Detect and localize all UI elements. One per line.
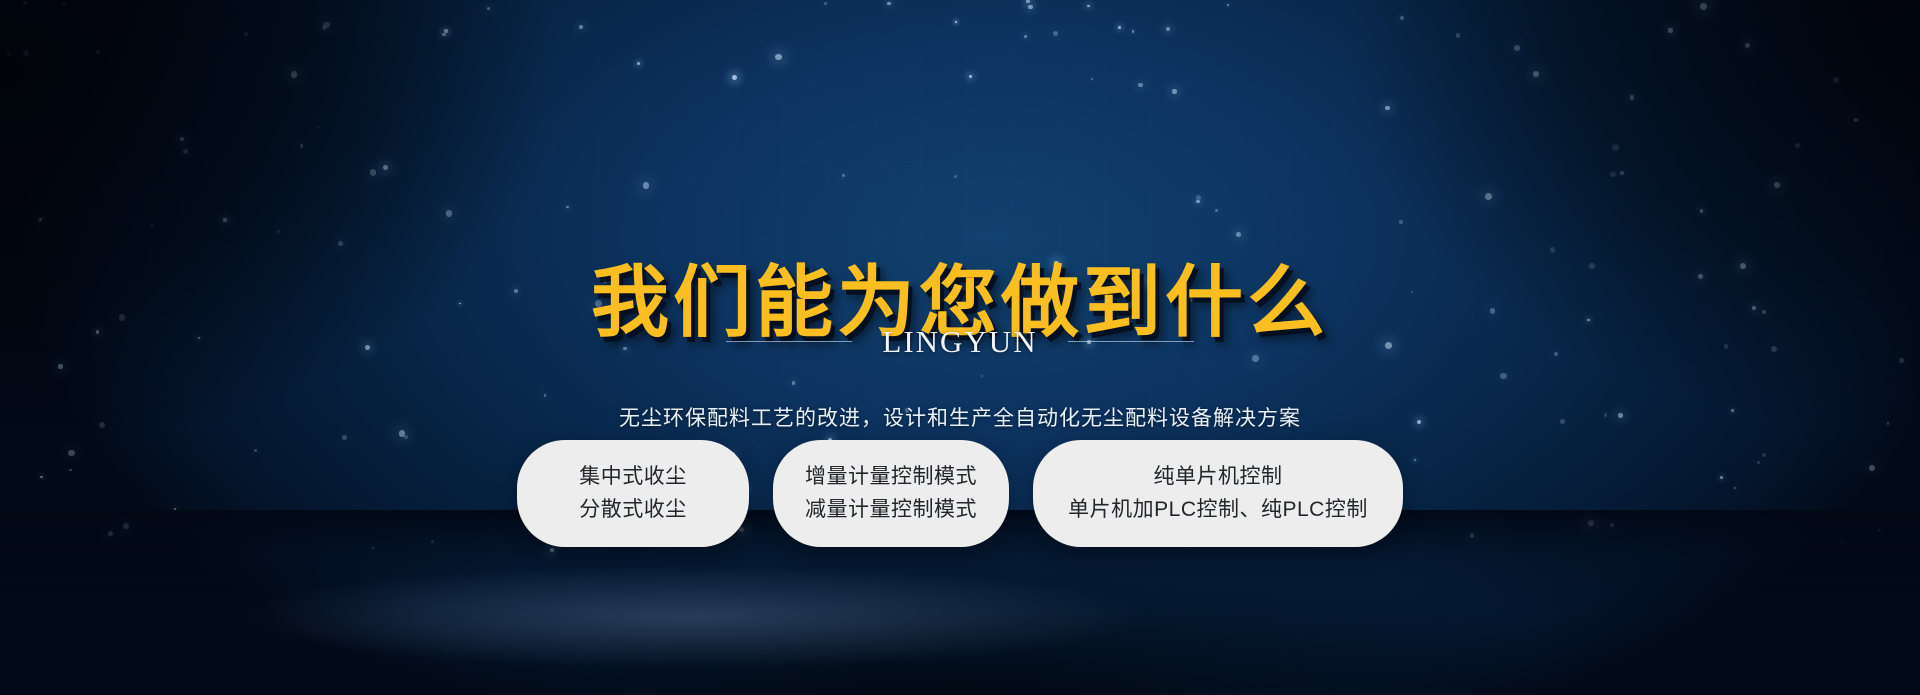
banner-description: 无尘环保配料工艺的改进，设计和生产全自动化无尘配料设备解决方案 [0, 402, 1920, 432]
brand-subtitle: LINGYUN [882, 326, 1037, 357]
pill-line-1: 增量计量控制模式 [805, 466, 977, 488]
decorative-rule-left [726, 341, 852, 342]
pill-line-2: 减量计量控制模式 [805, 499, 977, 521]
subtitle-row: LINGYUN [0, 326, 1920, 357]
feature-pill-metering-control-mode[interactable]: 增量计量控制模式 减量计量控制模式 [773, 440, 1009, 547]
pill-line-2: 分散式收尘 [579, 499, 687, 521]
banner-content: 我们能为您做到什么 LINGYUN 无尘环保配料工艺的改进，设计和生产全自动化无… [0, 0, 1920, 695]
decorative-rule-right [1068, 341, 1194, 342]
feature-pill-controller-type[interactable]: 纯单片机控制 单片机加PLC控制、纯PLC控制 [1033, 440, 1403, 547]
hero-banner: 我们能为您做到什么 LINGYUN 无尘环保配料工艺的改进，设计和生产全自动化无… [0, 0, 1920, 695]
pill-line-1: 纯单片机控制 [1154, 466, 1283, 488]
pill-line-1: 集中式收尘 [579, 466, 687, 488]
feature-pill-group: 集中式收尘 分散式收尘 增量计量控制模式 减量计量控制模式 纯单片机控制 单片机… [0, 440, 1920, 547]
pill-line-2: 单片机加PLC控制、纯PLC控制 [1068, 499, 1368, 521]
feature-pill-dust-collection[interactable]: 集中式收尘 分散式收尘 [517, 440, 749, 547]
